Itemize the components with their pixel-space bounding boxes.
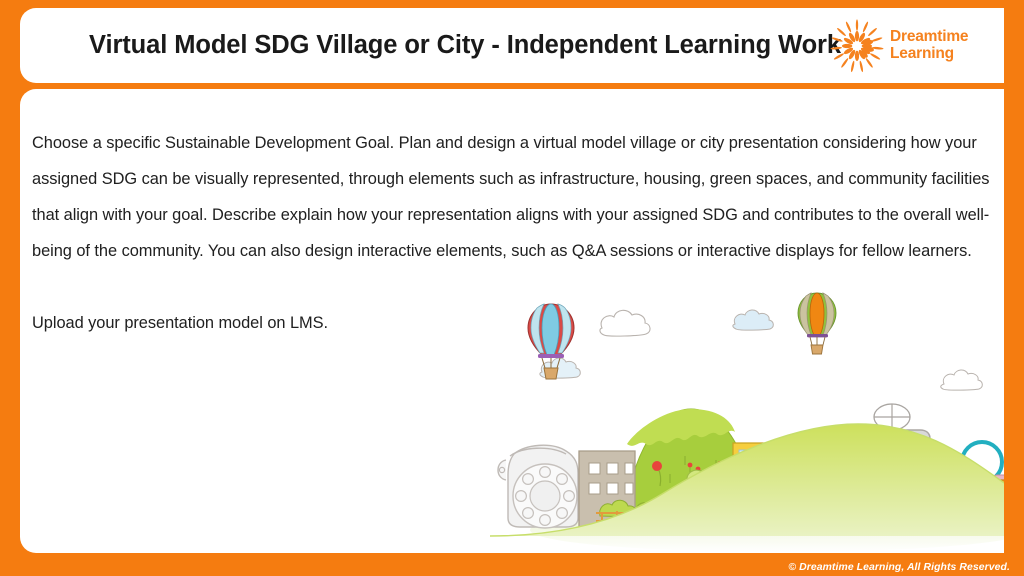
brand-logo-line2: Learning — [890, 45, 954, 62]
rotary-telephone — [498, 445, 578, 528]
smart-city-village-illustration — [490, 284, 1004, 553]
slide-root: Virtual Model SDG Village or City - Inde… — [0, 0, 1024, 576]
brand-logo-line1: Dreamtime — [890, 28, 968, 45]
content-panel: Choose a specific Sustainable Developmen… — [20, 89, 1004, 553]
cloud — [941, 370, 983, 390]
hot-air-balloon-orange-green — [798, 293, 836, 354]
task-paragraph-1: Choose a specific Sustainable Developmen… — [32, 125, 994, 269]
brand-logo: Dreamtime Learning — [828, 16, 990, 76]
sunburst-logo-icon — [828, 17, 886, 75]
header-panel: Virtual Model SDG Village or City - Inde… — [20, 8, 1004, 83]
page-title: Virtual Model SDG Village or City - Inde… — [60, 8, 870, 83]
copyright-text: © Dreamtime Learning, All Rights Reserve… — [788, 562, 1010, 573]
cloud — [600, 310, 650, 336]
footer-bar: © Dreamtime Learning, All Rights Reserve… — [0, 553, 1024, 576]
cloud — [733, 310, 773, 330]
brand-logo-text: Dreamtime Learning — [890, 29, 968, 62]
